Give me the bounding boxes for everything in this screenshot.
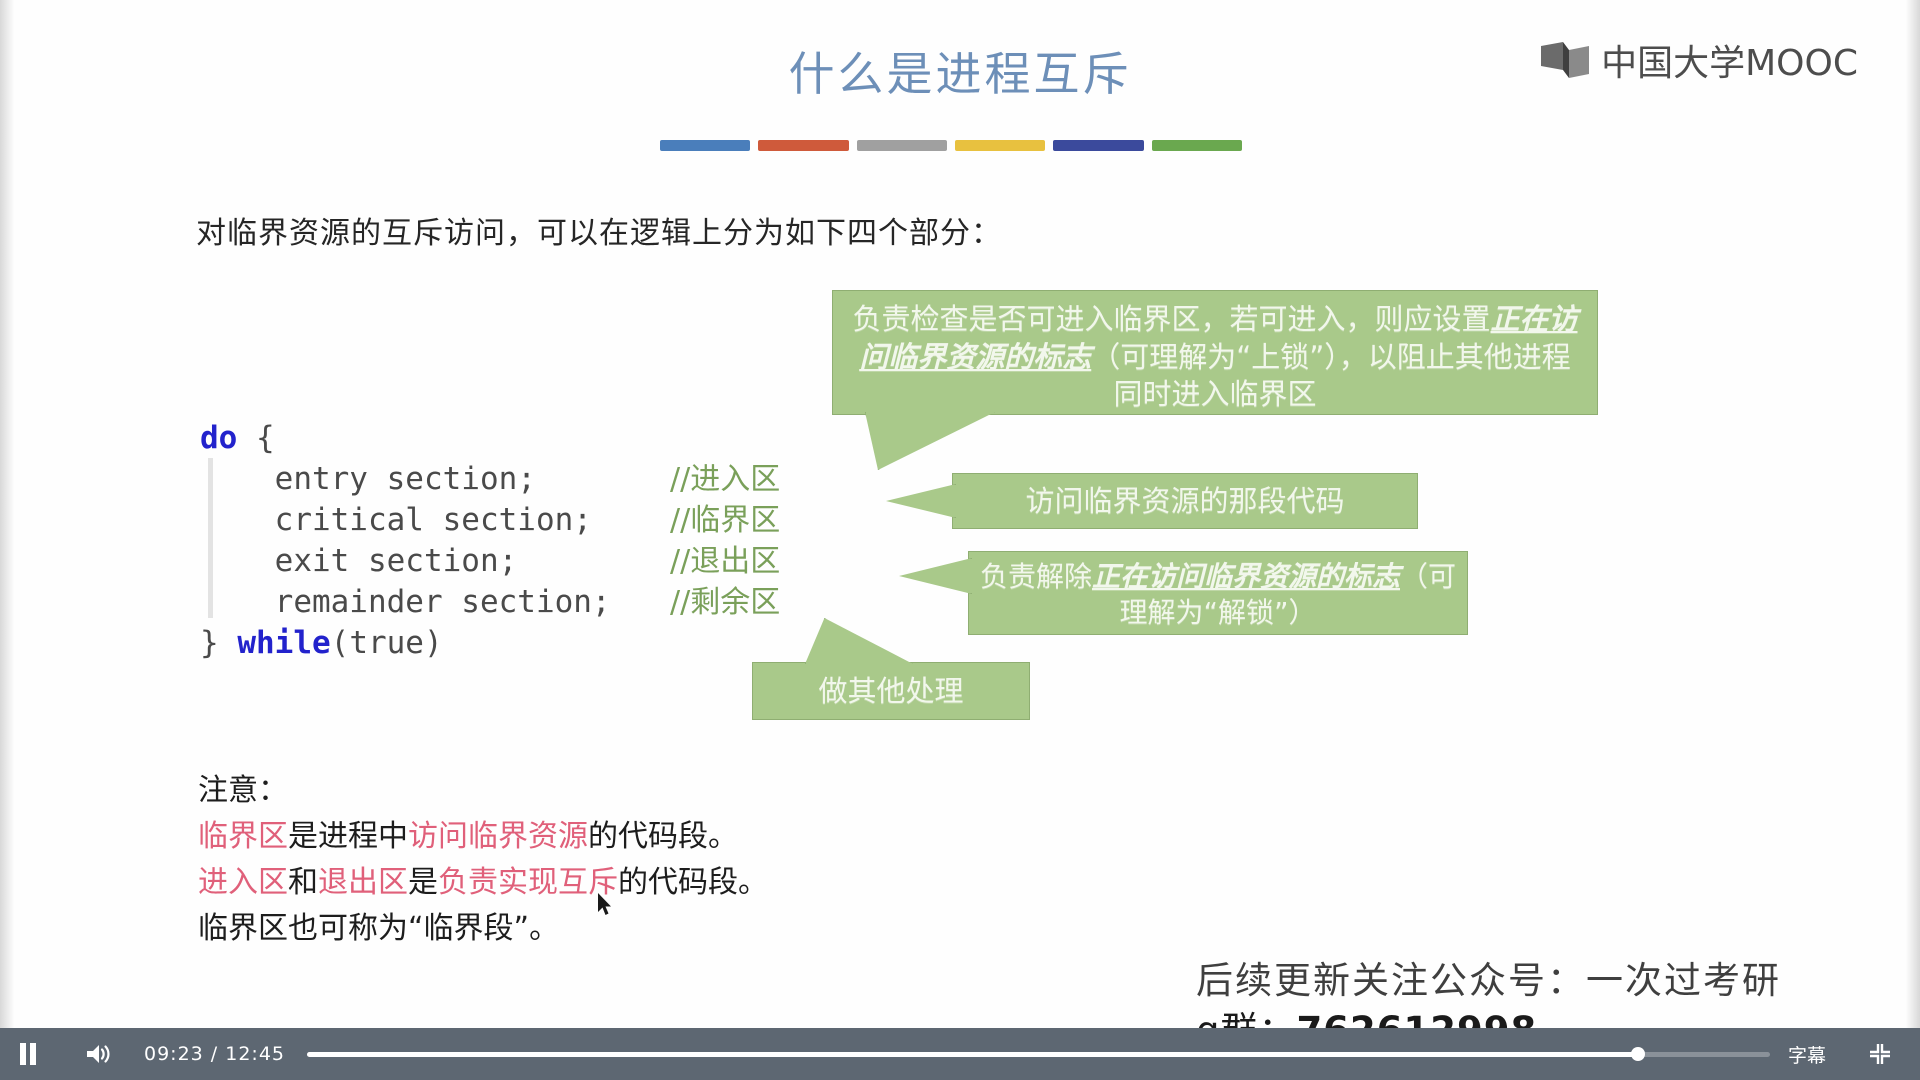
code-line-entry: entry section;//进入区 [200, 459, 780, 500]
callout-entry-part2: （可理解为“上锁”），以阻止其他进程同时进入临界区 [1091, 340, 1571, 412]
callout-remainder-text: 做其他处理 [818, 674, 963, 708]
callout-critical-section: 访问临界资源的那段代码 [952, 473, 1418, 529]
callout-critical-text: 访问临界资源的那段代码 [1025, 484, 1344, 518]
notes-l2-f: 的代码段。 [618, 865, 768, 900]
title-divider-bars [660, 140, 1242, 152]
divider-bar-2 [758, 140, 848, 151]
notes-l2-c: 退出区 [318, 865, 408, 900]
code-comment-critical: //临界区 [670, 500, 780, 541]
code-block: do { entry section;//进入区 critical sectio… [200, 418, 780, 664]
progress-bar-handle[interactable] [1631, 1047, 1645, 1061]
callout-entry-section: 负责检查是否可进入临界区，若可进入，则应设置正在访问临界资源的标志（可理解为“上… [832, 290, 1598, 415]
progress-bar-fill [307, 1052, 1638, 1057]
slide-right-edge [1906, 0, 1920, 1050]
pause-icon[interactable] [0, 1028, 56, 1080]
callout-entry-tail [865, 412, 995, 470]
notes-l1-d: 的代码段。 [588, 819, 738, 854]
video-player-screen: 中国大学MOOC 什么是进程互斥 对临界资源的互斥访问，可以在逻辑上分为如下四个… [0, 0, 1920, 1080]
callout-exit-section: 负责解除正在访问临界资源的标志（可理解为“解锁”） [968, 551, 1468, 635]
code-comment-remainder: //剩余区 [670, 582, 780, 623]
code-text-critical: critical section; [200, 500, 670, 541]
code-left-rule [208, 458, 213, 618]
notes-block: 注意： 临界区是进程中访问临界资源的代码段。 进入区和退出区是负责实现互斥的代码… [198, 768, 768, 952]
page-title: 什么是进程互斥 [0, 38, 1920, 104]
notes-l1-a: 临界区 [198, 819, 288, 854]
notes-l2-a: 进入区 [198, 865, 288, 900]
callout-exit-tail [899, 558, 972, 594]
divider-bar-3 [857, 140, 947, 151]
callout-exit-emphasis: 正在访问临界资源的标志 [1092, 560, 1400, 593]
notes-heading: 注意： [198, 768, 768, 814]
exit-fullscreen-icon[interactable] [1852, 1028, 1908, 1080]
subtitle-button[interactable]: 字幕 [1788, 1041, 1826, 1068]
notes-l1-c: 访问临界资源 [408, 819, 588, 854]
notes-l2-e: 负责实现互斥 [438, 865, 618, 900]
mouse-cursor-icon [598, 893, 614, 917]
code-line-exit: exit section;//退出区 [200, 541, 780, 582]
callout-remainder-tail [805, 618, 913, 664]
divider-bar-5 [1053, 140, 1143, 151]
notes-l1-b: 是进程中 [288, 819, 408, 854]
code-comment-entry: //进入区 [670, 459, 780, 500]
code-line-do: do { [200, 418, 780, 459]
notes-line-3: 临界区也可称为“临界段”。 [198, 906, 768, 952]
slide-left-edge [0, 0, 14, 1050]
progress-bar-track[interactable] [307, 1052, 1770, 1057]
code-line-while: } while(true) [200, 623, 780, 664]
code-line-remainder: remainder section;//剩余区 [200, 582, 780, 623]
code-while-args: (true) [331, 625, 443, 661]
callout-entry-part1: 负责检查是否可进入临界区，若可进入，则应设置 [852, 302, 1490, 336]
promo-subscribe-text: 后续更新关注公众号：一次过考研 [1196, 950, 1781, 1004]
code-text-entry: entry section; [200, 459, 670, 500]
divider-bar-4 [955, 140, 1045, 151]
code-line-critical: critical section;//临界区 [200, 500, 780, 541]
keyword-do: do [200, 420, 237, 456]
code-text-remainder: remainder section; [200, 582, 670, 623]
callout-critical-tail [886, 484, 956, 518]
video-control-bar: 09:23 / 12:45 字幕 [0, 1028, 1920, 1080]
code-comment-exit: //退出区 [670, 541, 780, 582]
notes-line-1: 临界区是进程中访问临界资源的代码段。 [198, 814, 768, 860]
intro-paragraph: 对临界资源的互斥访问，可以在逻辑上分为如下四个部分： [196, 208, 1002, 252]
code-do-rest: { [237, 420, 274, 456]
notes-line-2: 进入区和退出区是负责实现互斥的代码段。 [198, 860, 768, 906]
callout-remainder-section: 做其他处理 [752, 662, 1030, 720]
divider-bar-1 [660, 140, 750, 151]
code-close-brace: } [200, 625, 237, 661]
notes-l2-b: 和 [288, 865, 318, 900]
volume-on-icon[interactable] [70, 1028, 126, 1080]
code-text-exit: exit section; [200, 541, 670, 582]
keyword-while: while [237, 625, 330, 661]
callout-exit-part1: 负责解除 [980, 560, 1092, 593]
divider-bar-6 [1152, 140, 1242, 151]
slide-content: 中国大学MOOC 什么是进程互斥 对临界资源的互斥访问，可以在逻辑上分为如下四个… [0, 0, 1920, 1050]
time-display: 09:23 / 12:45 [144, 1043, 285, 1065]
notes-l2-d: 是 [408, 865, 438, 900]
